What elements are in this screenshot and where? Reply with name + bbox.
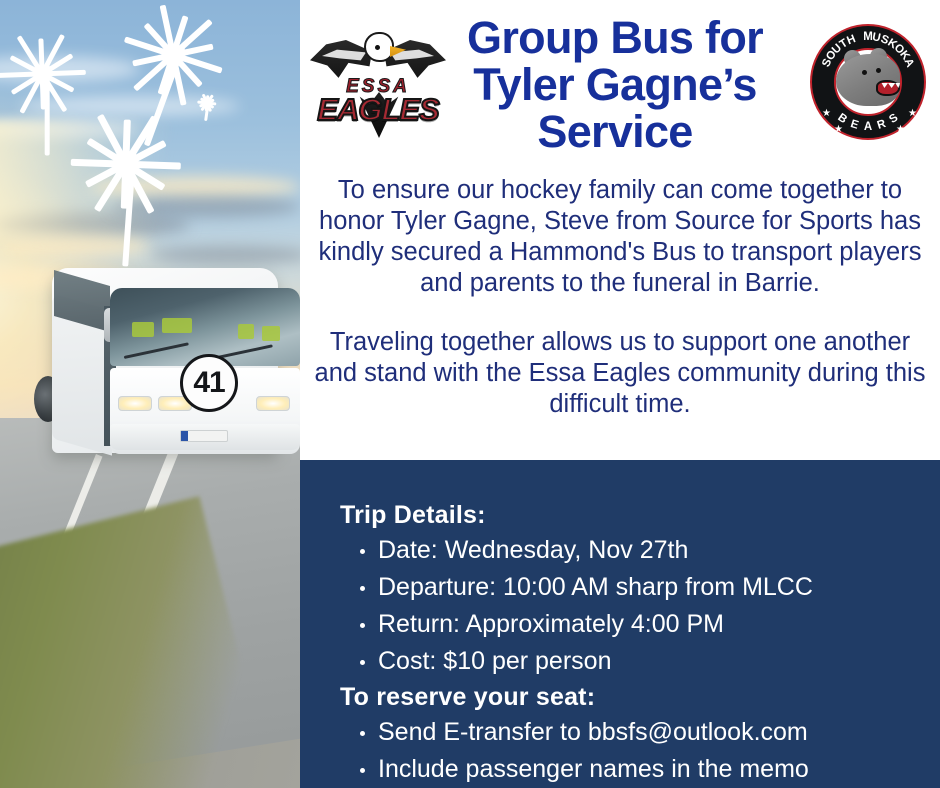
cloud xyxy=(20,96,240,116)
bear-eye xyxy=(876,68,881,73)
bus-number-badge: 41 xyxy=(180,354,238,412)
reserve-heading: To reserve your seat: xyxy=(340,680,904,714)
eagles-main-text: EAGLES xyxy=(308,92,448,128)
coach-bus: 41 xyxy=(18,258,280,468)
windshield-sign xyxy=(162,318,192,333)
page-title-line-2: Service xyxy=(450,108,780,155)
windshield-wiper xyxy=(124,342,189,359)
plate-blue-strip xyxy=(181,431,188,441)
windshield-sign xyxy=(132,322,154,337)
bears-star-icon: ★ xyxy=(822,108,831,119)
bears-star-icon: ★ xyxy=(834,124,843,135)
bears-star-icon: ★ xyxy=(908,108,917,119)
essa-eagles-logo: ESSA EAGLES xyxy=(308,26,448,146)
page-title-line-0: Group Bus for xyxy=(450,14,780,61)
content-panel: ESSA EAGLES Group Bus forTyler Gagne’sSe… xyxy=(300,0,940,788)
header-row: ESSA EAGLES Group Bus forTyler Gagne’sSe… xyxy=(300,0,940,175)
body-copy: To ensure our hockey family can come tog… xyxy=(300,175,940,420)
body-paragraph-1: To ensure our hockey family can come tog… xyxy=(314,175,926,299)
windshield-sign xyxy=(238,324,254,339)
cloud xyxy=(110,196,300,218)
reserve-item: Send E-transfer to bbsfs@outlook.com xyxy=(354,714,904,751)
reserve-list: Send E-transfer to bbsfs@outlook.comIncl… xyxy=(354,714,904,788)
page-title-line-1: Tyler Gagne’s xyxy=(450,61,780,108)
bears-star-icon: ★ xyxy=(896,124,905,135)
bears-arc-letter: A xyxy=(864,121,872,133)
highway xyxy=(0,418,300,788)
cloud xyxy=(0,236,150,256)
poster-root: 41 ESSA EAGLES Grou xyxy=(0,0,940,788)
bus-body: 41 xyxy=(52,268,278,453)
reserve-item: Include passenger names in the memo xyxy=(354,751,904,788)
page-title: Group Bus forTyler Gagne’sService xyxy=(450,14,780,155)
windshield-sign xyxy=(262,326,280,341)
trip-details-panel: Trip Details: Date: Wednesday, Nov 27thD… xyxy=(300,460,940,788)
trip-detail-item: Cost: $10 per person xyxy=(354,643,904,680)
eagle-head-icon xyxy=(364,32,394,62)
bus-license-plate xyxy=(180,430,228,442)
bear-eye xyxy=(862,70,867,75)
south-muskoka-bears-logo: SOUTHMUSKOKABEARS★★★★ xyxy=(810,24,926,140)
bus-headlight xyxy=(256,396,290,411)
trip-detail-item: Return: Approximately 4:00 PM xyxy=(354,606,904,643)
bus-headlight xyxy=(118,396,152,411)
bear-head-icon xyxy=(836,54,900,106)
trip-details-heading: Trip Details: xyxy=(340,498,904,532)
trip-details-list: Date: Wednesday, Nov 27thDeparture: 10:0… xyxy=(354,532,904,680)
trip-detail-item: Departure: 10:00 AM sharp from MLCC xyxy=(354,569,904,606)
trip-detail-item: Date: Wednesday, Nov 27th xyxy=(354,532,904,569)
bear-mouth xyxy=(876,80,900,96)
eagle-eye xyxy=(375,45,380,50)
body-paragraph-2: Traveling together allows us to support … xyxy=(314,327,926,420)
cloud xyxy=(90,176,300,198)
bear-teeth xyxy=(880,83,900,88)
bus-photo-panel: 41 xyxy=(0,0,300,788)
